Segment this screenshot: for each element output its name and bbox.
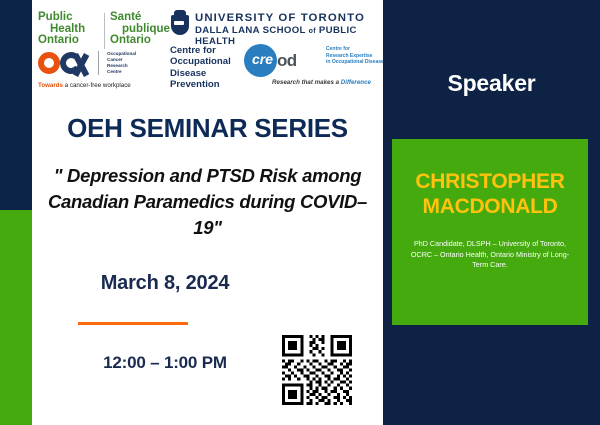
creod-mark-icon: cre od — [244, 44, 322, 77]
creod-logo: cre od Centre for Research Expertise in … — [244, 44, 384, 92]
codp-logo: Centre for Occupational Disease Preventi… — [170, 45, 242, 91]
pho-en-line1: Public — [38, 12, 85, 24]
creod-mark-od: od — [277, 51, 297, 71]
speaker-heading: Speaker — [383, 70, 600, 97]
qr-code[interactable] — [267, 332, 367, 408]
uoft-name: UNIVERSITY OF TORONTO — [195, 12, 365, 24]
speaker-credentials: PhD Candidate, DLSPH – University of Tor… — [404, 239, 576, 271]
event-time: 12:00 – 1:00 PM — [45, 353, 285, 373]
speaker-name: CHRISTOPHER MACDONALD — [392, 169, 588, 219]
logo-strip: Public Health Ontario Santé publique Ont… — [32, 0, 383, 103]
left-accent-band-green — [0, 210, 32, 425]
creod-mark-cre: cre — [246, 51, 279, 67]
creod-tagline-accent: Difference — [341, 79, 371, 86]
creod-expansion-line2: Research Expertise — [326, 53, 384, 60]
pho-en-line3: Ontario — [38, 35, 85, 47]
public-health-ontario-logo: Public Health Ontario Santé publique Ont… — [38, 12, 170, 52]
seminar-series-title: OEH SEMINAR SERIES — [32, 113, 383, 144]
speaker-card: CHRISTOPHER MACDONALD PhD Candidate, DLS… — [392, 139, 588, 325]
pho-english-wordmark: Public Health Ontario — [38, 12, 85, 47]
uoft-school-part1: DALLA LANA SCHOOL — [195, 25, 309, 36]
ocrc-expansion: Occupational Cancer Research Centre — [98, 51, 136, 75]
creod-tagline: Research that makes a Difference — [272, 79, 371, 86]
ocrc-tagline: Towards a cancer-free workplace — [38, 82, 131, 89]
talk-title: " Depression and PTSD Risk among Canadia… — [45, 163, 370, 241]
uoft-shield-icon — [170, 10, 190, 36]
creod-tagline-plain: Research that makes a — [272, 79, 341, 86]
orange-divider — [78, 322, 188, 325]
left-accent-band-navy — [0, 0, 32, 210]
event-date: March 8, 2024 — [45, 272, 285, 295]
ocrc-tagline-bold: Towards — [38, 82, 63, 89]
speaker-panel: Speaker CHRISTOPHER MACDONALD PhD Candid… — [383, 0, 600, 425]
uoft-school-of: of — [309, 28, 316, 35]
creod-expansion-line3: in Occupational Disease — [326, 59, 384, 66]
pho-fr-line1: Santé — [110, 12, 170, 24]
university-of-toronto-logo: UNIVERSITY OF TORONTO DALLA LANA SCHOOL … — [170, 10, 382, 40]
ocrc-tagline-rest: a cancer-free workplace — [63, 82, 131, 89]
pho-fr-line3: Ontario — [110, 35, 170, 47]
ocrc-logo: Occupational Cancer Research Centre Towa… — [38, 50, 178, 92]
creod-expansion: Centre for Research Expertise in Occupat… — [326, 46, 384, 66]
ocrc-expansion-line4: Centre — [107, 69, 136, 75]
creod-expansion-line1: Centre for — [326, 46, 384, 53]
logo-divider — [104, 13, 105, 49]
pho-french-wordmark: Santé publique Ontario — [110, 12, 170, 47]
seminar-poster: Public Health Ontario Santé publique Ont… — [0, 0, 600, 425]
